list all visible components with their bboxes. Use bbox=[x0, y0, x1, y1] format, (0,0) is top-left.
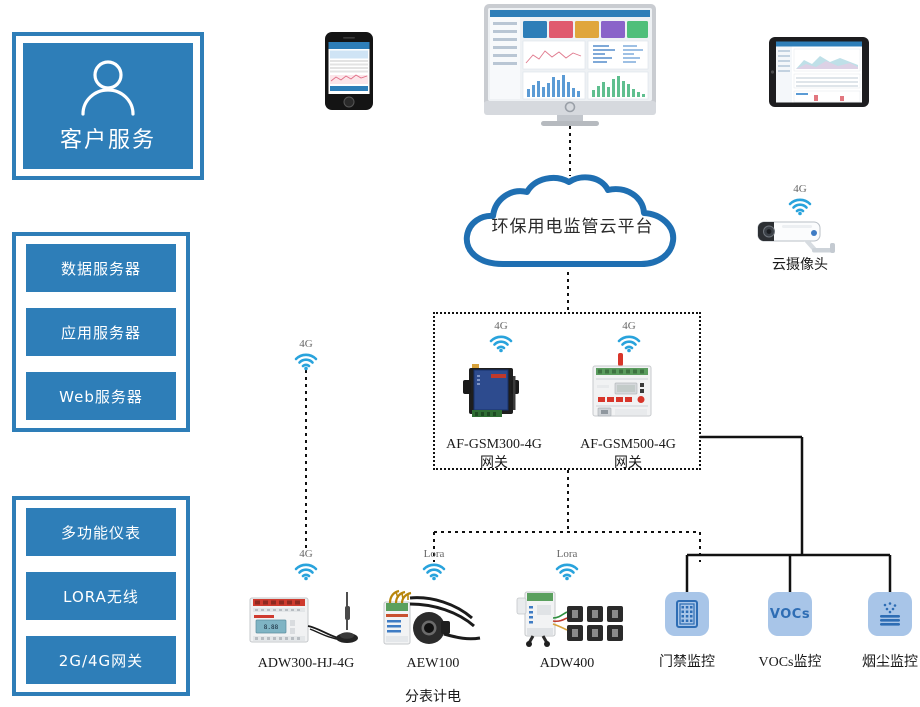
meter-1-signal-4g: 4G bbox=[286, 548, 326, 581]
capability-item-2g4g-gateway[interactable]: 2G/4G网关 bbox=[26, 636, 176, 684]
gateway-2-type: 网关 bbox=[614, 454, 642, 473]
capability-item-multifunction-meter[interactable]: 多功能仪表 bbox=[26, 508, 176, 556]
meter-3-signal-label: Lora bbox=[557, 548, 578, 560]
gateway-1-model: AF-GSM300-4G bbox=[446, 435, 542, 454]
gateway-2-model: AF-GSM500-4G bbox=[580, 435, 676, 454]
meter-node-aew100: AEW100 bbox=[378, 588, 488, 673]
sensor-1-label: 门禁监控 bbox=[659, 653, 715, 672]
server-item-data[interactable]: 数据服务器 bbox=[26, 244, 176, 292]
meter-1-model: ADW300-HJ-4G bbox=[258, 654, 354, 673]
svg-text:8.88: 8.88 bbox=[264, 624, 279, 631]
gateway-1-signal-4g: 4G bbox=[481, 320, 521, 353]
meter-2-signal-label: Lora bbox=[424, 548, 445, 560]
customer-service-panel: 客户服务 bbox=[12, 32, 204, 180]
left-link-signal-top: 4G bbox=[286, 338, 326, 371]
adw400-device-icon bbox=[509, 588, 625, 648]
gateway-1-type: 网关 bbox=[480, 454, 508, 473]
smartphone-dashboard bbox=[324, 31, 374, 116]
cloud-platform-label: 环保用电监管云平台 bbox=[455, 212, 690, 237]
gateway-2-signal-label: 4G bbox=[622, 320, 635, 332]
gateway-2-signal-4g: 4G bbox=[609, 320, 649, 353]
gateway-node-af-gsm300 bbox=[446, 360, 542, 422]
meters-group-label: 分表计电 bbox=[405, 688, 461, 707]
vocs-tile[interactable]: VOCs bbox=[768, 592, 812, 636]
wifi-icon bbox=[616, 333, 642, 353]
meter-1-signal-label: 4G bbox=[299, 548, 312, 560]
meter-node-adw300: 8.88 ADW300-HJ-4G bbox=[244, 588, 368, 673]
keypad-icon bbox=[675, 600, 699, 628]
tablet-dashboard bbox=[768, 36, 870, 113]
wifi-icon bbox=[293, 561, 319, 581]
cloud-camera-label: 云摄像头 bbox=[772, 256, 828, 275]
aew100-device-icon bbox=[380, 588, 486, 648]
adw300-device-icon: 8.88 bbox=[246, 588, 366, 648]
wifi-icon bbox=[421, 561, 447, 581]
smoke-dust-tile[interactable] bbox=[868, 592, 912, 636]
sensor-node-vocs[interactable]: VOCs VOCs监控 bbox=[746, 592, 834, 672]
sensor-node-access-control[interactable]: 门禁监控 bbox=[643, 592, 731, 672]
meter-2-model: AEW100 bbox=[407, 654, 460, 673]
cloud-camera-node: 云摄像头 bbox=[742, 212, 858, 275]
gateway-1-caption: AF-GSM300-4G 网关 bbox=[446, 435, 542, 473]
gateway-1-signal-label: 4G bbox=[494, 320, 507, 332]
sensor-2-label: VOCs监控 bbox=[758, 653, 821, 672]
wifi-icon bbox=[488, 333, 514, 353]
person-icon bbox=[76, 58, 140, 118]
gateway-2-caption: AF-GSM500-4G 网关 bbox=[580, 435, 676, 473]
wifi-icon bbox=[554, 561, 580, 581]
meter-node-adw400: ADW400 bbox=[508, 588, 626, 673]
camera-icon bbox=[752, 212, 848, 256]
meters-group-label-wrap: 分表计电 bbox=[378, 688, 488, 707]
sensor-3-label: 烟尘监控 bbox=[862, 653, 918, 672]
sensor-node-smoke-dust[interactable]: 烟尘监控 bbox=[846, 592, 920, 672]
servers-panel: 数据服务器 应用服务器 Web服务器 bbox=[12, 232, 190, 432]
customer-service-inner: 客户服务 bbox=[23, 43, 193, 169]
diagram-canvas: 客户服务 数据服务器 应用服务器 Web服务器 多功能仪表 LORA无线 2G/… bbox=[0, 0, 920, 707]
customer-service-label: 客户服务 bbox=[60, 122, 156, 154]
vocs-text-icon: VOCs bbox=[770, 607, 810, 622]
access-control-tile[interactable] bbox=[665, 592, 709, 636]
server-item-application[interactable]: 应用服务器 bbox=[26, 308, 176, 356]
camera-signal-label: 4G bbox=[793, 183, 806, 195]
cloud-platform: 环保用电监管云平台 bbox=[455, 172, 690, 277]
gateway-node-af-gsm500 bbox=[574, 352, 670, 422]
gateway-500-device-icon bbox=[585, 352, 659, 422]
device-capability-panel: 多功能仪表 LORA无线 2G/4G网关 bbox=[12, 496, 190, 696]
meter-3-model: ADW400 bbox=[540, 654, 594, 673]
meter-2-signal-lora: Lora bbox=[414, 548, 454, 581]
server-item-web[interactable]: Web服务器 bbox=[26, 372, 176, 420]
gateway-300-device-icon bbox=[461, 360, 527, 422]
left-link-top-label: 4G bbox=[299, 338, 312, 350]
desktop-monitor-dashboard bbox=[483, 3, 657, 132]
capability-item-lora-wireless[interactable]: LORA无线 bbox=[26, 572, 176, 620]
wifi-icon bbox=[293, 351, 319, 371]
smoke-dust-icon bbox=[877, 601, 903, 627]
meter-3-signal-lora: Lora bbox=[547, 548, 587, 581]
